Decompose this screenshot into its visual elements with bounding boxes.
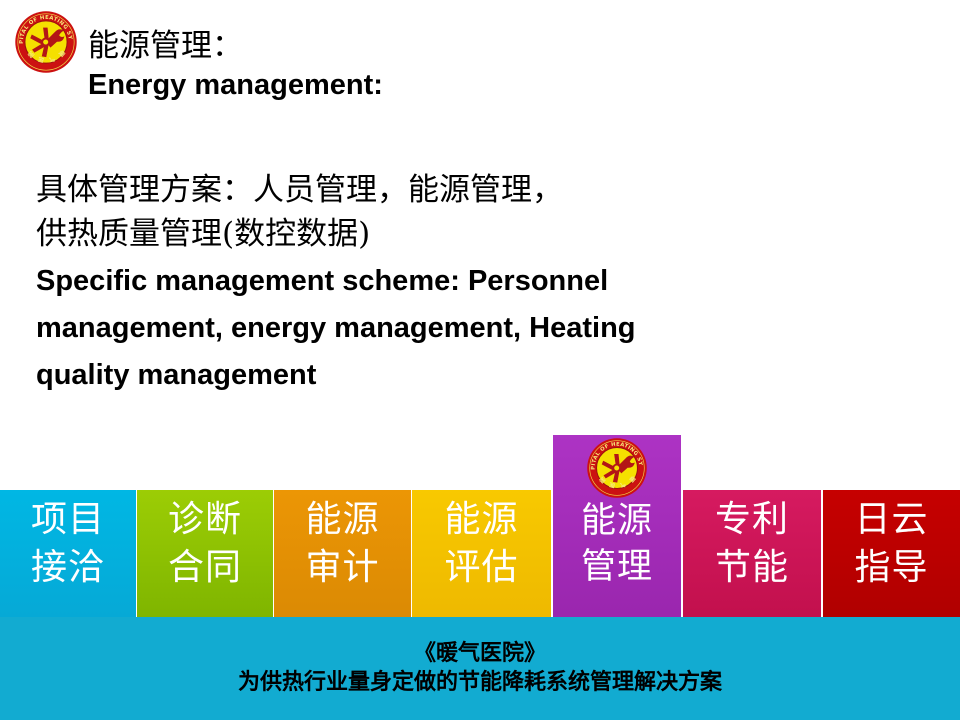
banner-title: 《暖气医院》 bbox=[414, 640, 546, 668]
process-tile-label-line1: 能源 bbox=[581, 498, 653, 544]
process-tile-label-line1: 项目 bbox=[31, 496, 105, 544]
body-text: 具体管理方案：人员管理，能源管理， 供热质量管理(数控数据) Specific … bbox=[36, 168, 916, 397]
process-tile-label-line1: 能源 bbox=[444, 496, 518, 544]
body-english-line-3: quality management bbox=[36, 354, 916, 397]
process-tile-4[interactable]: 能源评估 bbox=[412, 490, 551, 617]
process-tile-label-line2: 指导 bbox=[854, 544, 928, 592]
bottom-banner: 《暖气医院》 为供热行业量身定做的节能降耗系统管理解决方案 bbox=[0, 617, 960, 720]
page-title: 能源管理： Energy management: bbox=[88, 26, 688, 104]
company-logo: HOSPITAL OF HEATING SYSTEM 暖 气 医 院 bbox=[14, 10, 78, 74]
process-tile-label-line2: 接洽 bbox=[31, 544, 105, 592]
process-tile-label-line1: 诊断 bbox=[168, 496, 242, 544]
process-tile-7[interactable]: 日云指导 bbox=[823, 490, 960, 617]
heating-hospital-emblem-icon: HOSPITAL OF HEATING SYSTEM 暖 气 医 院 bbox=[586, 437, 648, 499]
process-tile-label-line1: 能源 bbox=[305, 496, 379, 544]
process-tile-6[interactable]: 专利节能 bbox=[683, 490, 821, 617]
process-tile-label-line1: 专利 bbox=[715, 496, 789, 544]
process-tile-1[interactable]: 项目接洽 bbox=[0, 490, 136, 617]
body-english-line-1: Specific management scheme: Personnel bbox=[36, 260, 916, 303]
process-tile-2[interactable]: 诊断合同 bbox=[137, 490, 273, 617]
process-tile-label-line1: 日云 bbox=[854, 496, 928, 544]
process-step-strip: 项目接洽诊断合同能源审计能源评估 HOSPITAL OF HEATING SYS… bbox=[0, 430, 960, 617]
banner-subtitle: 为供热行业量身定做的节能降耗系统管理解决方案 bbox=[238, 668, 722, 698]
process-tile-label-line2: 审计 bbox=[305, 544, 379, 592]
process-tile-label-line2: 评估 bbox=[444, 544, 518, 592]
process-tile-5[interactable]: HOSPITAL OF HEATING SYSTEM 暖 气 医 院 能源管理 bbox=[553, 435, 681, 617]
page-title-chinese: 能源管理： bbox=[88, 26, 688, 66]
page-title-english: Energy management: bbox=[88, 66, 688, 104]
body-english-line-2: management, energy management, Heating bbox=[36, 307, 916, 350]
body-chinese-line-1: 具体管理方案：人员管理，能源管理， bbox=[36, 168, 916, 212]
process-tile-3[interactable]: 能源审计 bbox=[274, 490, 411, 617]
process-tile-label-line2: 管理 bbox=[581, 544, 653, 590]
process-tile-label-line2: 节能 bbox=[715, 544, 789, 592]
process-tile-label-line2: 合同 bbox=[168, 544, 242, 592]
heating-hospital-emblem-icon: HOSPITAL OF HEATING SYSTEM 暖 气 医 院 bbox=[14, 10, 78, 74]
body-chinese-line-2: 供热质量管理(数控数据) bbox=[36, 212, 916, 256]
